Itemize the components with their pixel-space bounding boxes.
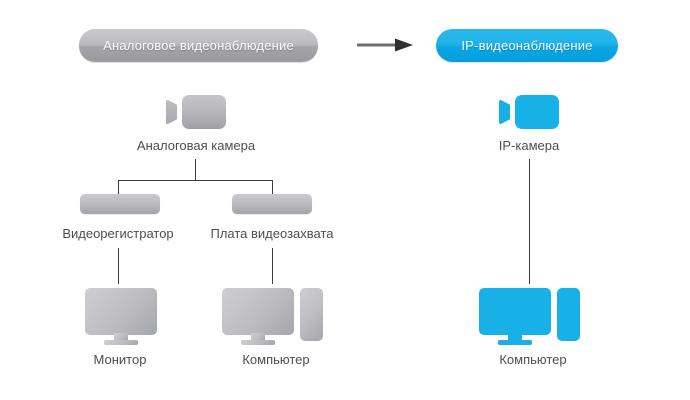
connector-capture-card-to-computer <box>272 248 273 284</box>
monitor-icon <box>85 288 157 346</box>
dvr-icon <box>80 194 160 214</box>
diagram-canvas: Аналоговое видеонаблюдение IP-видеонаблю… <box>0 0 690 400</box>
ip-computer-monitor-icon <box>479 288 551 346</box>
dvr-label: Видеорегистратор <box>62 226 173 241</box>
camera-lens-shape <box>499 99 510 125</box>
monitor-base-shape <box>241 340 275 345</box>
connector-ip-camera-to-computer <box>529 159 530 284</box>
connector-branch-bar <box>118 180 273 181</box>
badge-ip-surveillance: IP-видеонаблюдение <box>436 29 618 62</box>
analog-camera-label: Аналоговая камера <box>137 138 255 153</box>
ip-computer-label: Компьютер <box>499 352 566 367</box>
ip-camera-icon <box>499 95 559 129</box>
arrow-right-icon <box>357 38 413 52</box>
badge-analog-surveillance: Аналоговое видеонаблюдение <box>79 29 318 62</box>
analog-computer-tower-icon <box>300 288 323 341</box>
ip-computer-tower-icon <box>557 288 580 341</box>
capture-card-label: Плата видеозахвата <box>210 226 333 241</box>
connector-to-capture-card <box>272 180 273 194</box>
camera-body-shape <box>182 95 226 129</box>
monitor-label: Монитор <box>94 352 147 367</box>
camera-body-shape <box>515 95 559 129</box>
connector-camera-stem <box>195 159 196 180</box>
monitor-screen-shape <box>85 288 157 335</box>
analog-computer-monitor-icon <box>222 288 294 346</box>
analog-camera-icon <box>166 95 226 129</box>
analog-computer-label: Компьютер <box>242 352 309 367</box>
monitor-screen-shape <box>479 288 551 335</box>
camera-lens-shape <box>166 99 177 125</box>
connector-to-dvr <box>118 180 119 194</box>
ip-camera-label: IP-камера <box>499 138 559 153</box>
monitor-base-shape <box>104 340 138 345</box>
monitor-base-shape <box>498 340 532 345</box>
badge-analog-label: Аналоговое видеонаблюдение <box>103 38 294 53</box>
capture-card-icon <box>232 194 312 214</box>
monitor-screen-shape <box>222 288 294 335</box>
badge-ip-label: IP-видеонаблюдение <box>461 38 592 53</box>
connector-dvr-to-monitor <box>118 248 119 284</box>
